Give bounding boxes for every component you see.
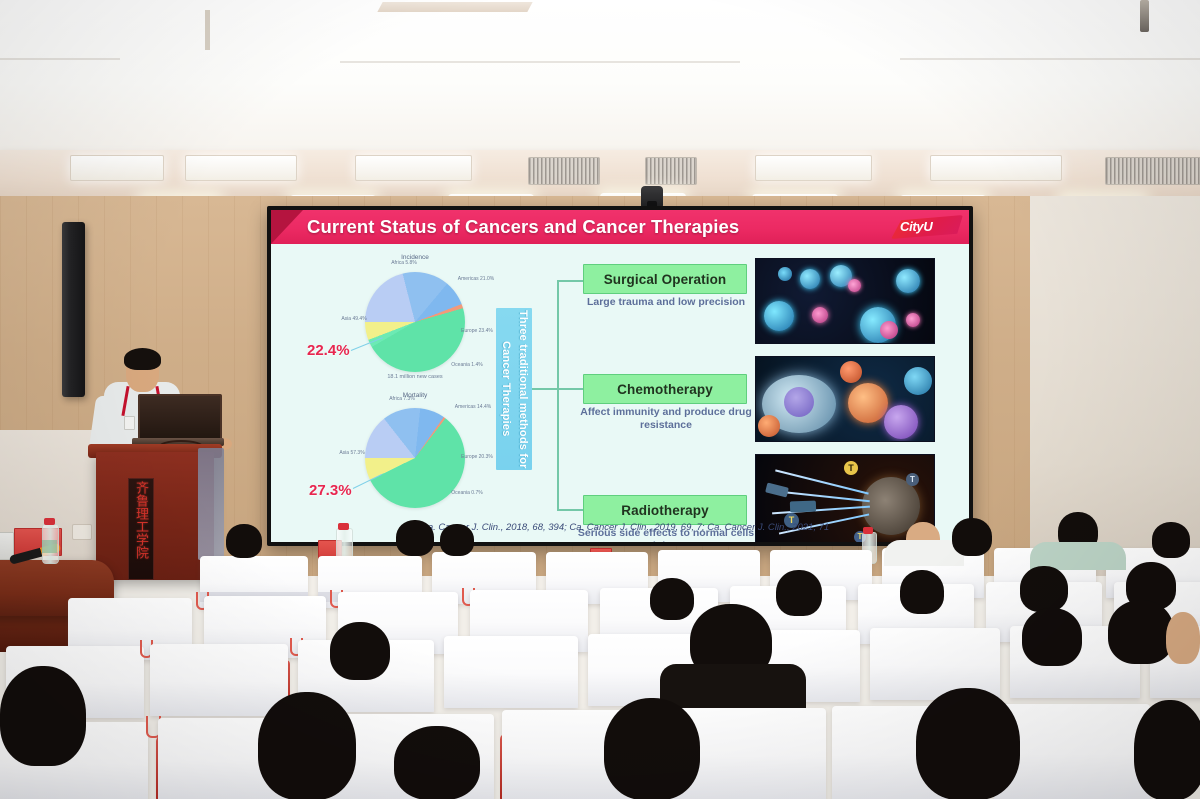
- incidence-subtitle: 18.1 million new cases: [335, 374, 495, 381]
- method-desc-surgical: Large trauma and low precision: [579, 296, 753, 309]
- ceiling-seam: [0, 58, 120, 60]
- audience-head: [1020, 566, 1068, 612]
- center-methods-label: Three traditional methods for Cancer The…: [496, 308, 532, 470]
- incidence-chart: Incidence Asia 49.4% Europe 23.4% Americ…: [335, 254, 495, 384]
- ceiling-panel-light: [755, 155, 872, 181]
- presenter-hair: [124, 348, 161, 370]
- bottle-cap: [863, 527, 873, 534]
- audience-head: [226, 524, 262, 558]
- audience-head: [1108, 600, 1174, 664]
- ceiling-air-vent: [1105, 157, 1200, 185]
- bottle-cap: [338, 523, 349, 530]
- incidence-label-africa: Africa 5.8%: [387, 260, 421, 266]
- connector-trunk: [532, 388, 558, 390]
- title-corner-accent: [271, 210, 303, 244]
- wall-socket: [72, 524, 92, 540]
- method-box-radiotherapy[interactable]: Radiotherapy: [583, 495, 747, 525]
- mortality-label-asia: Asia 57.3%: [335, 450, 369, 456]
- connector-spine: [557, 280, 559, 510]
- incidence-label-americas: Americas 21.0%: [457, 276, 495, 282]
- audience-shoulders: [660, 664, 806, 710]
- incidence-callout: 22.4%: [307, 342, 350, 359]
- mortality-label-americas: Americas 14.4%: [453, 404, 493, 410]
- podium-side-panel: [198, 448, 224, 560]
- podium-plaque: 齐鲁理工学院: [128, 478, 154, 580]
- ceiling-panel-light: [70, 155, 164, 181]
- seat-cover: [150, 644, 288, 716]
- audience-head: [916, 688, 1020, 799]
- presentation-slide: Current Status of Cancers and Cancer The…: [271, 210, 969, 542]
- t-cell-marker: T: [906, 473, 919, 486]
- connector-branch-surgical: [557, 280, 583, 282]
- podium-plaque-text: 齐鲁理工学院: [133, 481, 149, 559]
- cityu-logo: CityU: [891, 213, 963, 241]
- photo-virus-cells: [755, 258, 935, 344]
- incidence-label-europe: Europe 23.4%: [459, 328, 495, 334]
- slide-citation: Ca. Cancer J. Clin., 2018, 68, 394; Ca. …: [421, 522, 961, 533]
- method-box-chemotherapy[interactable]: Chemotherapy: [583, 374, 747, 404]
- ceiling-sprinkler: [1140, 0, 1149, 32]
- audience-head: [396, 520, 434, 556]
- method-desc-chemotherapy: Affect immunity and produce drug resista…: [573, 406, 759, 431]
- slide-title: Current Status of Cancers and Cancer The…: [307, 215, 887, 241]
- mortality-label-oceania: Oceania 0.7%: [447, 490, 487, 496]
- slide-title-bar: Current Status of Cancers and Cancer The…: [271, 210, 969, 244]
- ceiling-panel-light: [185, 155, 297, 181]
- connector-branch-chemo: [557, 388, 583, 390]
- bottle-cap: [44, 518, 55, 525]
- method-name-surgical: Surgical Operation: [604, 272, 727, 287]
- connector-branch-radio: [557, 509, 583, 511]
- audience-head: [1022, 608, 1082, 666]
- method-name-chemotherapy: Chemotherapy: [617, 382, 713, 397]
- column-speaker: [62, 222, 85, 397]
- incidence-label-oceania: Oceania 1.4%: [447, 362, 487, 368]
- seat-cover: [444, 636, 578, 708]
- audience-head: [1166, 612, 1200, 664]
- incidence-label-asia: Asia 49.4%: [337, 316, 371, 322]
- mortality-chart: Mortality Asia 57.3% Europe 20.3% Americ…: [335, 392, 495, 524]
- t-cell-marker: T: [844, 461, 858, 475]
- audience-head: [440, 524, 474, 556]
- audience-head: [650, 578, 694, 620]
- ceiling-vent-strip: [377, 2, 532, 12]
- center-methods-label-text: Three traditional methods for Cancer The…: [497, 308, 531, 470]
- method-box-surgical[interactable]: Surgical Operation: [583, 264, 747, 294]
- method-name-radiotherapy: Radiotherapy: [621, 503, 708, 518]
- ceiling-air-vent: [528, 157, 600, 185]
- audience-head: [1134, 700, 1200, 799]
- incidence-pie: [365, 272, 465, 372]
- right-side-wall: [1030, 196, 1200, 576]
- photo-cell-engulfing: [755, 356, 935, 442]
- audience-head: [604, 698, 700, 799]
- presenter-badge: [124, 416, 135, 430]
- audience-head: [776, 570, 822, 616]
- audience-head: [330, 622, 390, 680]
- audience-head: [952, 518, 992, 556]
- ceiling-panel-light: [355, 155, 472, 181]
- mortality-label-europe: Europe 20.3%: [459, 454, 495, 460]
- audience-head: [258, 692, 356, 799]
- cityu-logo-text: CityU: [900, 219, 932, 234]
- ceiling: [0, 0, 1200, 150]
- podium: [96, 452, 214, 580]
- ceiling-seam: [340, 61, 740, 63]
- lecture-hall-photo: Current Status of Cancers and Cancer The…: [0, 0, 1200, 799]
- ceiling-seam: [900, 58, 1200, 60]
- audience-head: [0, 666, 86, 766]
- laptop-screen[interactable]: [138, 394, 222, 444]
- audience-head: [900, 570, 944, 614]
- ceiling-panel-light: [930, 155, 1062, 181]
- ceiling-hanger-rod: [205, 10, 210, 50]
- mortality-label-africa: Africa 7.3%: [385, 396, 419, 402]
- audience-head: [1152, 522, 1190, 558]
- audience-head: [394, 726, 480, 799]
- ceiling-air-vent: [645, 157, 697, 185]
- mortality-callout: 27.3%: [309, 482, 352, 499]
- bottle-label: [42, 540, 57, 553]
